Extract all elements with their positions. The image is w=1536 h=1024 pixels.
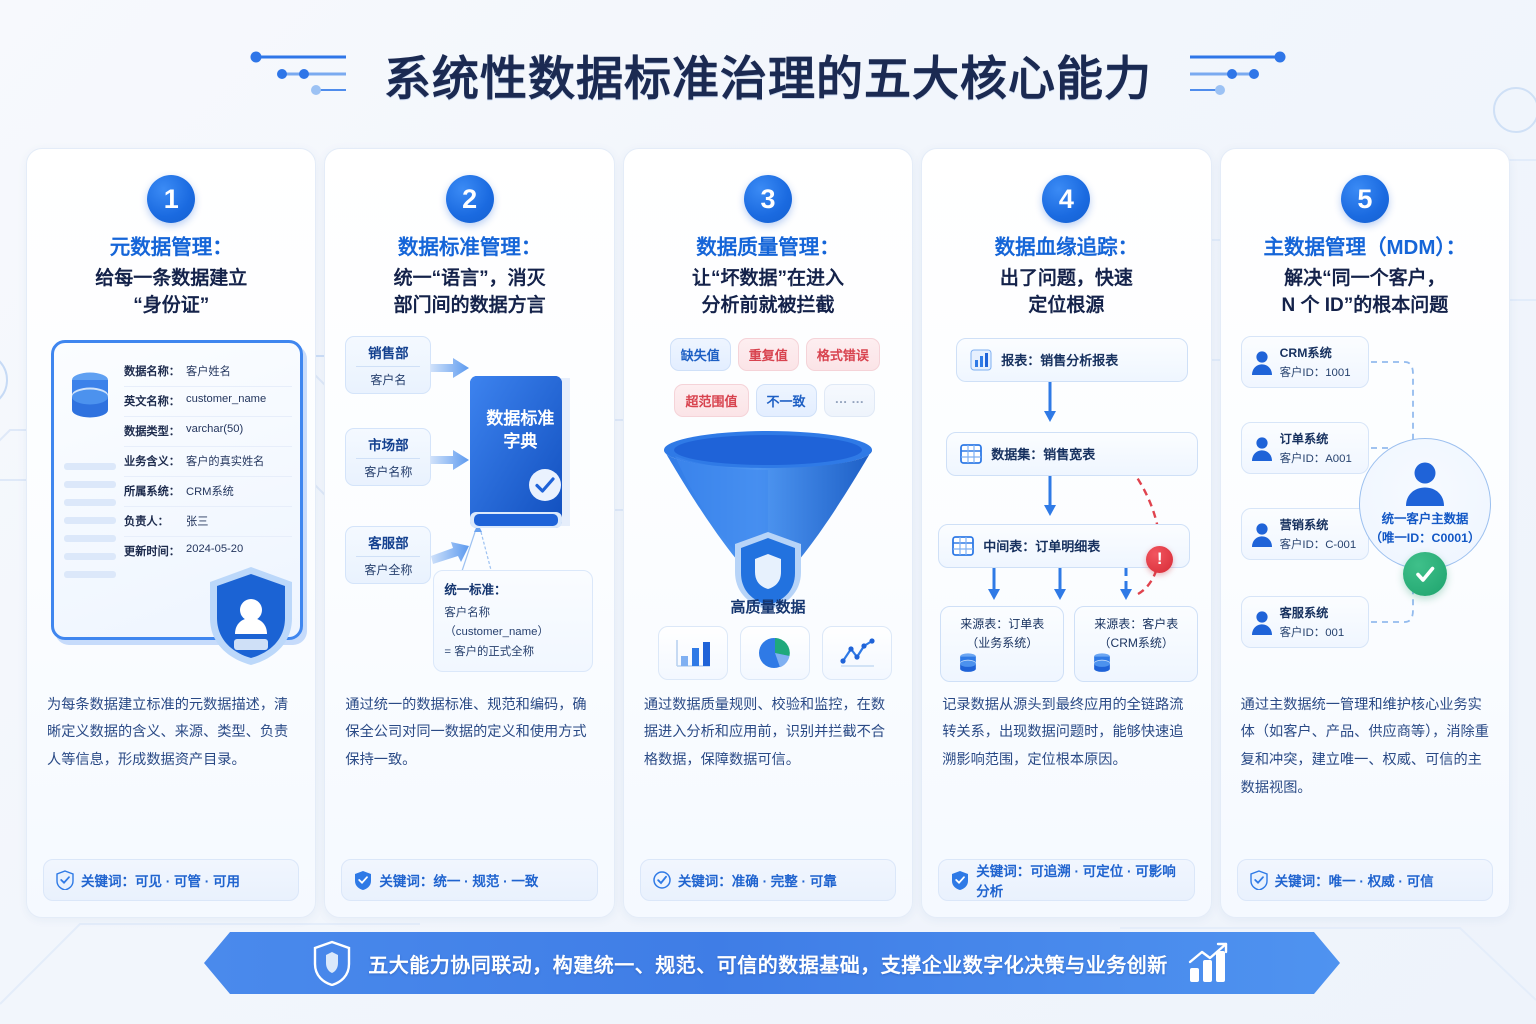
quality-issue-tags-row1: 缺失值 重复值 格式错误 bbox=[644, 338, 906, 371]
quality-tag: 超范围值 bbox=[674, 384, 748, 417]
shield-check-icon bbox=[653, 871, 671, 889]
title-decoration-left bbox=[250, 45, 370, 103]
page-title: 系统性数据标准治理的五大核心能力 bbox=[384, 40, 1152, 109]
shield-check-icon bbox=[951, 870, 969, 890]
meta-key: 更新时间： bbox=[124, 543, 186, 559]
card-title: 数据质量管理： bbox=[640, 235, 896, 262]
high-quality-label: 高质量数据 bbox=[640, 596, 896, 617]
lineage-node-source-orders: 来源表：订单表 （业务系统） bbox=[940, 606, 1064, 682]
card-description: 通过统一的数据标准、规范和编码，确保全公司对同一数据的定义和使用方式保持一致。 bbox=[341, 692, 597, 775]
capability-cards: 1 元数据管理： 给每一条数据建立 “身份证” 数据名称： bbox=[26, 148, 1510, 918]
database-icon bbox=[955, 653, 981, 673]
card-number-badge: 2 bbox=[446, 175, 494, 223]
meta-value: customer_name bbox=[186, 393, 266, 409]
card-metadata-management[interactable]: 1 元数据管理： 给每一条数据建立 “身份证” 数据名称： bbox=[26, 148, 316, 918]
book-line2: 字典 bbox=[464, 431, 576, 454]
node-label-line1: 来源表：订单表 bbox=[960, 615, 1044, 632]
card-description: 记录数据从源头到最终应用的全链路流转关系，出现数据问题时，能够快速追溯影响范围，… bbox=[938, 692, 1194, 775]
card-subtitle-line2: 分析前就被拦截 bbox=[640, 293, 896, 320]
table-row: 所属系统： CRM系统 bbox=[124, 477, 292, 507]
keyword-badge: 关键词：唯一 · 权威 · 可信 bbox=[1237, 859, 1493, 901]
book-line1: 数据标准 bbox=[464, 408, 576, 431]
note-line2: = 客户的正式全称 bbox=[444, 643, 582, 663]
card-title: 数据标准管理： bbox=[341, 235, 597, 262]
card-description: 通过主数据统一管理和维护核心业务实体（如客户、产品、供应商等），消除重复和冲突，… bbox=[1237, 692, 1493, 803]
master-data-hub: 统一客户主数据 （唯一ID：C0001） bbox=[1359, 438, 1491, 570]
shield-check-icon bbox=[56, 870, 74, 890]
card-subtitle-line1: 出了问题，快速 bbox=[938, 266, 1194, 293]
card-number-badge: 5 bbox=[1341, 175, 1389, 223]
system-id: 客户ID：A001 bbox=[1280, 450, 1352, 466]
table-icon bbox=[959, 442, 983, 466]
identity-shield-icon bbox=[205, 564, 297, 668]
meta-value: varchar(50) bbox=[186, 423, 243, 439]
quality-tag: … … bbox=[824, 384, 876, 417]
metadata-visual: 数据名称： 客户姓名 英文名称： customer_name 数据类型： var… bbox=[43, 334, 299, 686]
standard-dictionary-visual: 销售部 客户名 市场部 客户名称 客服部 客户全称 bbox=[341, 334, 597, 686]
chart-icons-row bbox=[646, 626, 904, 680]
dept-term: 客户名称 bbox=[364, 463, 412, 480]
keyword-badge: 关键词：可追溯 · 可定位 · 可影响分析 bbox=[938, 859, 1194, 901]
system-name: CRM系统 bbox=[1280, 343, 1351, 361]
quality-tag: 不一致 bbox=[756, 384, 817, 417]
card-subtitle-line2: “身份证” bbox=[43, 293, 299, 320]
node-label-line2: （CRM系统） bbox=[1099, 634, 1174, 651]
page-header: 系统性数据标准治理的五大核心能力 bbox=[0, 38, 1536, 110]
table-row: 更新时间： 2024-05-20 bbox=[124, 537, 292, 566]
card-data-quality-management[interactable]: 3 数据质量管理： 让“坏数据”在进入 分析前就被拦截 缺失值 重复值 格式错误… bbox=[623, 148, 913, 918]
meta-value: 张三 bbox=[186, 513, 208, 529]
card-title: 元数据管理： bbox=[43, 235, 299, 262]
card-data-lineage-tracking[interactable]: 4 数据血缘追踪： 出了问题，快速 定位根源 bbox=[921, 148, 1211, 918]
card-subtitle-line1: 统一“语言”，消灭 bbox=[341, 266, 597, 293]
system-card-service: 客服系统 客户ID：001 bbox=[1241, 596, 1369, 648]
card-subtitle-line1: 让“坏数据”在进入 bbox=[640, 266, 896, 293]
bar-chart-icon bbox=[658, 626, 728, 680]
meta-key: 所属系统： bbox=[124, 483, 186, 499]
system-card-crm: CRM系统 客户ID：1001 bbox=[1241, 336, 1369, 388]
quality-tag: 重复值 bbox=[738, 338, 799, 371]
card-subtitle-line2: 部门间的数据方言 bbox=[341, 293, 597, 320]
check-circle-icon bbox=[528, 468, 562, 502]
user-icon bbox=[1251, 435, 1273, 461]
system-name: 客服系统 bbox=[1280, 603, 1345, 621]
database-icon bbox=[1089, 653, 1115, 673]
system-card-marketing: 营销系统 客户ID：C-001 bbox=[1241, 508, 1369, 560]
shield-check-icon bbox=[1250, 870, 1268, 890]
error-marker-icon: ! bbox=[1146, 546, 1173, 573]
card-number-badge: 4 bbox=[1042, 175, 1090, 223]
keyword-text: 关键词：统一 · 规范 · 一致 bbox=[379, 870, 538, 890]
meta-key: 负责人： bbox=[124, 513, 186, 529]
meta-value: 客户的真实姓名 bbox=[186, 453, 264, 469]
growth-chart-icon bbox=[1184, 942, 1232, 984]
card-number-badge: 3 bbox=[744, 175, 792, 223]
card-subtitle-line2: 定位根源 bbox=[938, 293, 1194, 320]
meta-value: CRM系统 bbox=[186, 483, 234, 499]
system-id: 客户ID：C-001 bbox=[1280, 536, 1357, 552]
node-label: 数据集：销售宽表 bbox=[991, 444, 1095, 463]
card-description: 为每条数据建立标准的元数据描述，清晰定义数据的含义、来源、类型、负责人等信息，形… bbox=[43, 692, 299, 775]
note-line1: 客户名称（customer_name） bbox=[444, 604, 582, 643]
shield-icon bbox=[312, 940, 352, 986]
title-decoration-right bbox=[1166, 45, 1286, 103]
lineage-visual: 报表：销售分析报表 数据集：销售宽表 bbox=[938, 334, 1194, 686]
node-label: 报表：销售分析报表 bbox=[1001, 350, 1118, 369]
keyword-badge: 关键词：可见 · 可管 · 可用 bbox=[43, 859, 299, 901]
hub-line2: （唯一ID：C0001） bbox=[1370, 529, 1481, 548]
meta-key: 数据类型： bbox=[124, 423, 186, 439]
keyword-badge: 关键词：准确 · 完整 · 可靠 bbox=[640, 859, 896, 901]
user-icon bbox=[1251, 521, 1273, 547]
lineage-node-dataset: 数据集：销售宽表 bbox=[946, 432, 1198, 476]
keyword-text: 关键词：准确 · 完整 · 可靠 bbox=[678, 870, 837, 890]
table-icon bbox=[951, 534, 975, 558]
placeholder-lines bbox=[64, 463, 116, 589]
line-chart-icon bbox=[822, 626, 892, 680]
dept-term: 客户名 bbox=[370, 371, 406, 388]
standard-dictionary-book: 数据标准 字典 bbox=[464, 372, 576, 532]
dept-term: 客户全称 bbox=[364, 561, 412, 578]
card-subtitle-line2: N 个 ID”的根本问题 bbox=[1237, 293, 1493, 320]
table-row: 业务含义： 客户的真实姓名 bbox=[124, 447, 292, 477]
meta-key: 数据名称： bbox=[124, 363, 186, 379]
lineage-node-source-customers: 来源表：客户表 （CRM系统） bbox=[1074, 606, 1198, 682]
keyword-text: 关键词：可见 · 可管 · 可用 bbox=[81, 870, 240, 890]
card-number-badge: 1 bbox=[147, 175, 195, 223]
database-icon bbox=[68, 371, 112, 425]
dept-name: 市场部 bbox=[368, 434, 409, 454]
pie-chart-icon bbox=[740, 626, 810, 680]
card-title: 数据血缘追踪： bbox=[938, 235, 1194, 262]
node-label-line1: 来源表：客户表 bbox=[1094, 615, 1178, 632]
card-subtitle-line1: 解决“同一个客户， bbox=[1237, 266, 1493, 293]
quality-tag: 缺失值 bbox=[670, 338, 731, 371]
user-icon bbox=[1404, 460, 1446, 506]
quality-tag: 格式错误 bbox=[806, 338, 880, 371]
meta-value: 2024-05-20 bbox=[186, 543, 243, 559]
metadata-rows: 数据名称： 客户姓名 英文名称： customer_name 数据类型： var… bbox=[124, 357, 292, 566]
node-label-line2: （业务系统） bbox=[966, 634, 1038, 651]
card-subtitle-line1: 给每一条数据建立 bbox=[43, 266, 299, 293]
system-name: 订单系统 bbox=[1280, 429, 1352, 447]
node-label: 中间表：订单明细表 bbox=[983, 536, 1100, 555]
system-name: 营销系统 bbox=[1280, 515, 1357, 533]
quality-issue-tags-row2: 超范围值 不一致 … … bbox=[644, 384, 906, 417]
note-title: 统一标准： bbox=[444, 580, 582, 598]
dept-name: 客服部 bbox=[368, 532, 409, 552]
keyword-badge: 关键词：统一 · 规范 · 一致 bbox=[341, 859, 597, 901]
table-row: 英文名称： customer_name bbox=[124, 387, 292, 417]
dept-marketing: 市场部 客户名称 bbox=[345, 428, 431, 486]
footer-text: 五大能力协同联动，构建统一、规范、可信的数据基础，支撑企业数字化决策与业务创新 bbox=[368, 949, 1168, 978]
footer-banner: 五大能力协同联动，构建统一、规范、可信的数据基础，支撑企业数字化决策与业务创新 bbox=[204, 932, 1340, 994]
hub-line1: 统一客户主数据 bbox=[1382, 510, 1469, 529]
table-row: 负责人： 张三 bbox=[124, 507, 292, 537]
quality-funnel-visual: 缺失值 重复值 格式错误 超范围值 不一致 … … bbox=[640, 334, 896, 686]
card-data-standard-management[interactable]: 2 数据标准管理： 统一“语言”，消灭 部门间的数据方言 销售部 客户名 bbox=[324, 148, 614, 918]
dept-name: 销售部 bbox=[368, 342, 409, 362]
system-id: 客户ID：001 bbox=[1280, 624, 1345, 640]
keyword-text: 关键词：唯一 · 权威 · 可信 bbox=[1275, 870, 1434, 890]
user-icon bbox=[1251, 349, 1273, 375]
card-title: 主数据管理（MDM）： bbox=[1237, 235, 1493, 262]
system-id: 客户ID：1001 bbox=[1280, 364, 1351, 380]
mdm-visual: CRM系统 客户ID：1001 订单系统 客户ID：A001 bbox=[1237, 334, 1493, 686]
dept-sales: 销售部 客户名 bbox=[345, 336, 431, 394]
meta-key: 业务含义： bbox=[124, 453, 186, 469]
table-row: 数据类型： varchar(50) bbox=[124, 417, 292, 447]
shield-check-icon bbox=[354, 870, 372, 890]
report-icon bbox=[969, 348, 993, 372]
table-row: 数据名称： 客户姓名 bbox=[124, 357, 292, 387]
system-card-orders: 订单系统 客户ID：A001 bbox=[1241, 422, 1369, 474]
card-description: 通过数据质量规则、校验和监控，在数据进入分析和应用前，识别并拦截不合格数据，保障… bbox=[640, 692, 896, 775]
lineage-node-report: 报表：销售分析报表 bbox=[956, 338, 1188, 382]
user-icon bbox=[1251, 609, 1273, 635]
unified-standard-note: 统一标准： 客户名称（customer_name） = 客户的正式全称 bbox=[433, 570, 593, 673]
meta-value: 客户姓名 bbox=[186, 363, 231, 379]
keyword-text: 关键词：可追溯 · 可定位 · 可影响分析 bbox=[976, 860, 1181, 900]
card-master-data-management[interactable]: 5 主数据管理（MDM）： 解决“同一个客户， N 个 ID”的根本问题 CR bbox=[1220, 148, 1510, 918]
verified-check-icon bbox=[1403, 552, 1447, 596]
dept-service: 客服部 客户全称 bbox=[345, 526, 431, 584]
meta-key: 英文名称： bbox=[124, 393, 186, 409]
